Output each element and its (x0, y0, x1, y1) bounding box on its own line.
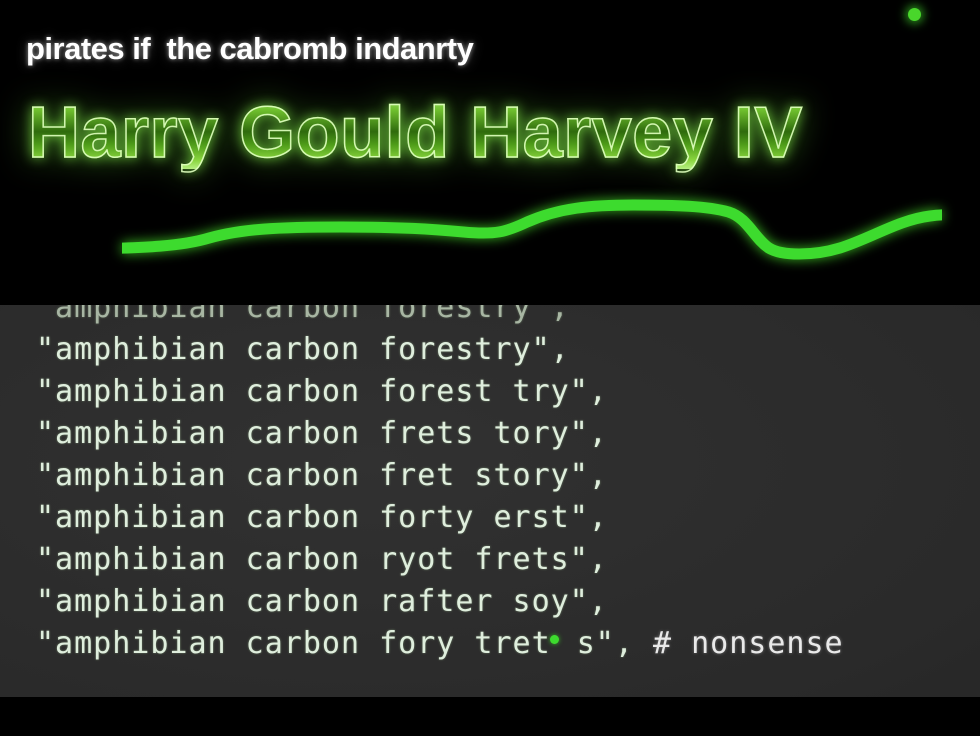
code-line: "amphibian carbon ryot frets", (0, 539, 980, 581)
status-dot-icon (908, 8, 921, 21)
code-line-list: "amphibian carbon forestry", "amphibian … (0, 305, 980, 665)
code-line: "amphibian carbon frets tory", (0, 413, 980, 455)
code-line: "amphibian carbon rafter soy", (0, 581, 980, 623)
code-line-last: "amphibian carbon fory tret s", # nonsen… (0, 623, 980, 665)
header-banner: pirates if the cabromb indanrty Harry Go… (0, 0, 980, 305)
code-text-region: "amphibian carbon forestry", "amphibian … (0, 305, 980, 697)
code-comment: # nonsense (653, 626, 844, 661)
code-line-partial: "amphibian carbon forestry", (0, 305, 980, 329)
code-line: "amphibian carbon forty erst", (0, 497, 980, 539)
code-line: "amphibian carbon forestry", (0, 329, 980, 371)
code-line: "amphibian carbon forest try", (0, 371, 980, 413)
wavy-underline-icon (122, 196, 942, 266)
code-last-line-prefix: "amphibian carbon fory tret (36, 626, 551, 661)
bottom-black-bar (0, 697, 980, 736)
screenshot-root: pirates if the cabromb indanrty Harry Go… (0, 0, 980, 736)
subtitle-text: pirates if the cabromb indanrty (26, 31, 473, 67)
code-last-line-suffix: s", (558, 626, 653, 661)
page-title: Harry Gould Harvey IV (28, 97, 952, 169)
code-line: "amphibian carbon fret story", (0, 455, 980, 497)
